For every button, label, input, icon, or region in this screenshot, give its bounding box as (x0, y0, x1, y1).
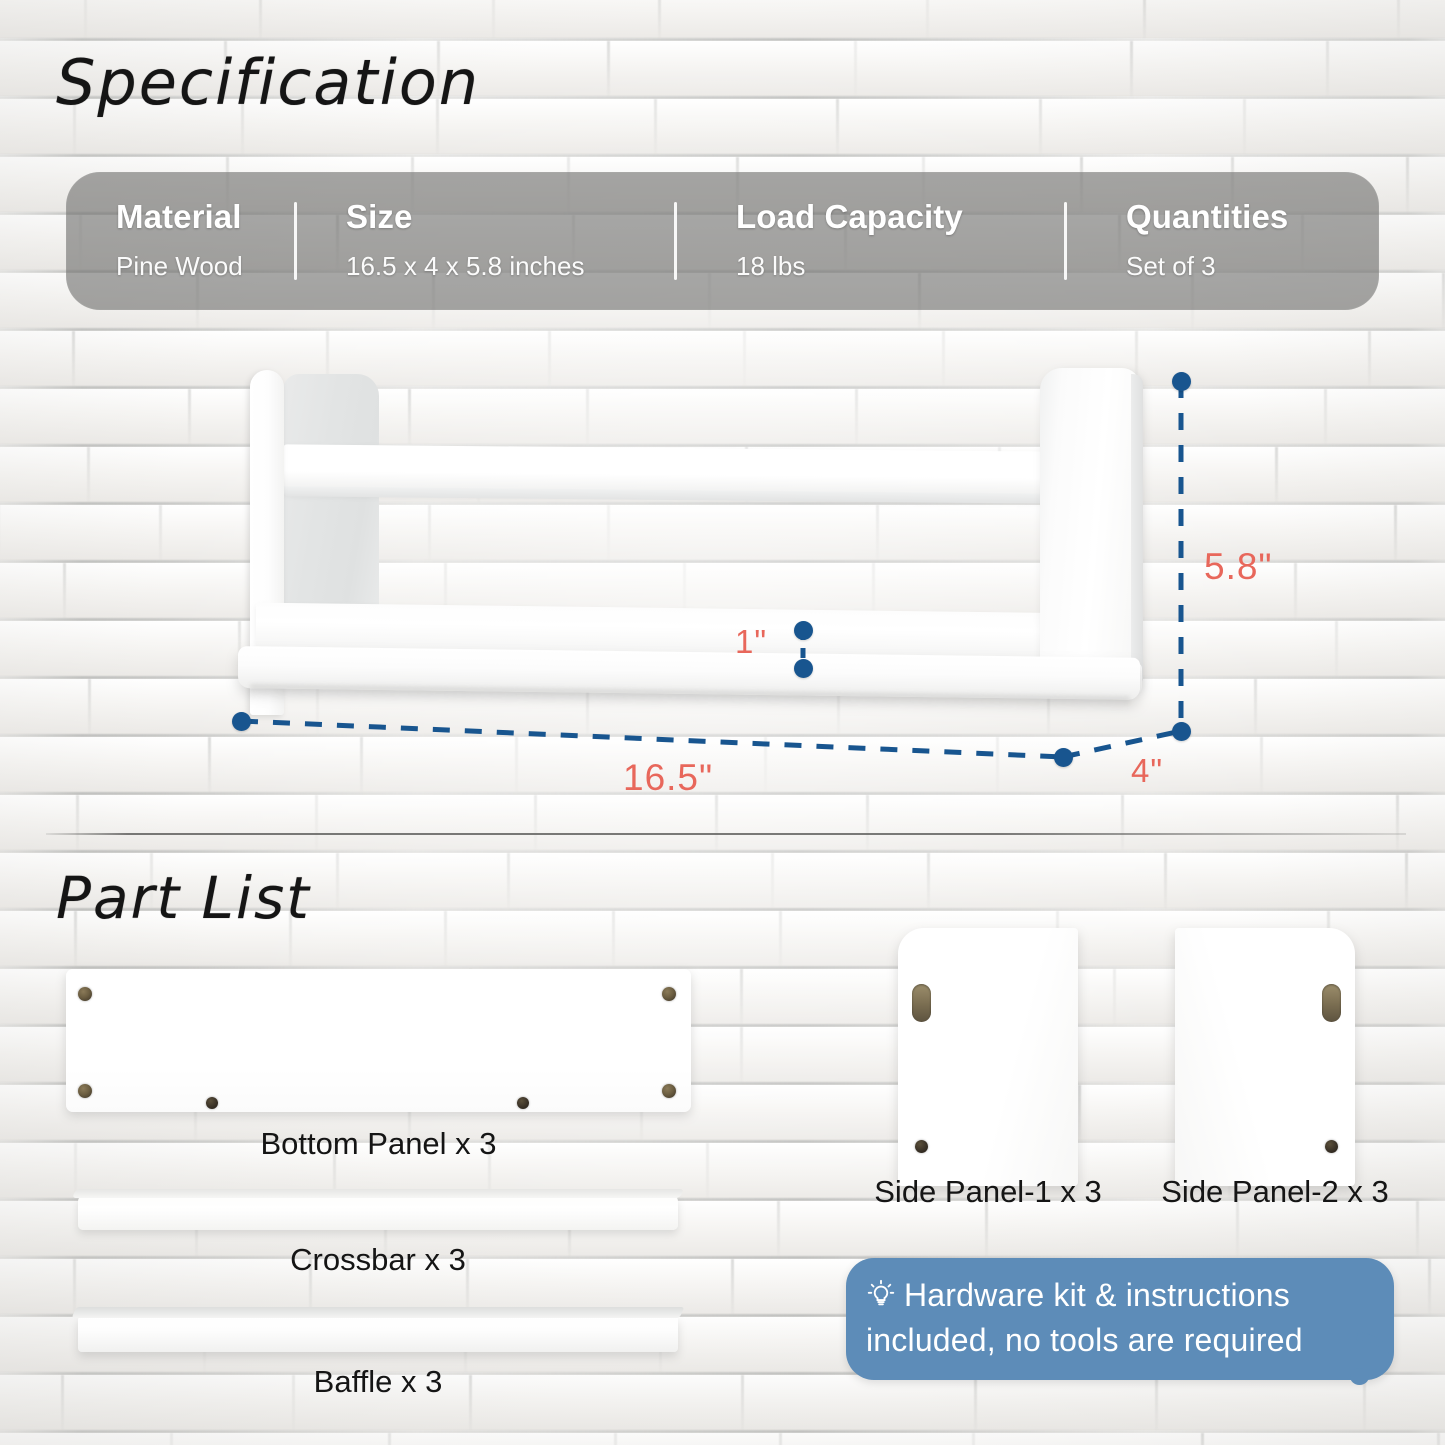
spec-value-load-capacity: 18 lbs (736, 251, 1066, 282)
dimension-dot-lip-bottom (794, 659, 813, 678)
brick-row (0, 0, 1445, 38)
hardware-callout-bubble: Hardware kit & instructions included, no… (846, 1258, 1394, 1380)
spec-separator-1 (294, 202, 297, 280)
screw-hole (78, 1084, 92, 1098)
part-caption-crossbar: Crossbar x 3 (78, 1242, 678, 1278)
dimension-label-lip: 1" (735, 623, 767, 661)
specification-heading: Specification (56, 46, 480, 119)
dimension-dot-depth-front (1054, 748, 1073, 767)
hanging-slot (1322, 984, 1341, 1022)
spec-cell-material: Material Pine Wood (66, 172, 296, 310)
part-caption-side-panel-2: Side Panel-2 x 3 (1135, 1174, 1415, 1210)
part-side-panel-2 (1175, 928, 1355, 1186)
spec-value-quantities: Set of 3 (1126, 251, 1366, 282)
part-side-panel-1 (898, 928, 1078, 1186)
screw-hole (1325, 1140, 1338, 1153)
shelf-right-side-panel-edge (1131, 374, 1143, 682)
dimension-dot-height-bottom (1172, 722, 1191, 741)
spec-value-size: 16.5 x 4 x 5.8 inches (346, 251, 676, 282)
part-crossbar (78, 1196, 678, 1230)
screw-hole (78, 987, 92, 1001)
spec-label-quantities: Quantities (1126, 200, 1366, 235)
part-baffle (78, 1316, 678, 1352)
spec-separator-2 (674, 202, 677, 280)
dimension-dot-height-top (1172, 372, 1191, 391)
screw-hole (915, 1140, 928, 1153)
hardware-callout-text: Hardware kit & instructions included, no… (866, 1274, 1376, 1361)
bubble-tail-dot (1350, 1368, 1369, 1385)
dimension-dot-lip-top (794, 621, 813, 640)
product-spec-infographic: Specification Material Pine Wood Size 16… (0, 0, 1445, 1445)
screw-hole (517, 1097, 529, 1109)
spec-label-size: Size (346, 200, 676, 235)
screw-hole (662, 987, 676, 1001)
part-caption-side-panel-1: Side Panel-1 x 3 (848, 1174, 1128, 1210)
screw-hole (662, 1084, 676, 1098)
shelf-product-photo (0, 330, 1445, 760)
part-caption-bottom-panel: Bottom Panel x 3 (66, 1126, 691, 1162)
spec-separator-3 (1064, 202, 1067, 280)
brick-row (0, 1430, 1445, 1445)
specification-bar: Material Pine Wood Size 16.5 x 4 x 5.8 i… (66, 172, 1379, 310)
screw-hole (206, 1097, 218, 1109)
hanging-slot (912, 984, 931, 1022)
dimension-label-depth: 4" (1131, 752, 1163, 790)
spec-label-material: Material (116, 200, 296, 235)
spec-cell-quantities: Quantities Set of 3 (1066, 172, 1366, 310)
spec-cell-load-capacity: Load Capacity 18 lbs (676, 172, 1066, 310)
hardware-callout-line1: Hardware kit & instructions (904, 1277, 1290, 1313)
section-divider (46, 833, 1406, 835)
spec-value-material: Pine Wood (116, 251, 296, 282)
part-list-heading: Part List (56, 864, 311, 932)
lightbulb-icon (866, 1277, 896, 1319)
spec-label-load-capacity: Load Capacity (736, 200, 1066, 235)
part-caption-baffle: Baffle x 3 (78, 1364, 678, 1400)
dimension-label-width: 16.5" (623, 757, 713, 799)
dimension-label-height: 5.8" (1204, 546, 1273, 588)
shelf-right-side-panel (1040, 368, 1140, 688)
part-bottom-panel (66, 969, 691, 1112)
spec-cell-size: Size 16.5 x 4 x 5.8 inches (296, 172, 676, 310)
dimension-dot-width-left (232, 712, 251, 731)
hardware-callout-line2: included, no tools are required (866, 1322, 1303, 1358)
brick-row (0, 792, 1445, 850)
